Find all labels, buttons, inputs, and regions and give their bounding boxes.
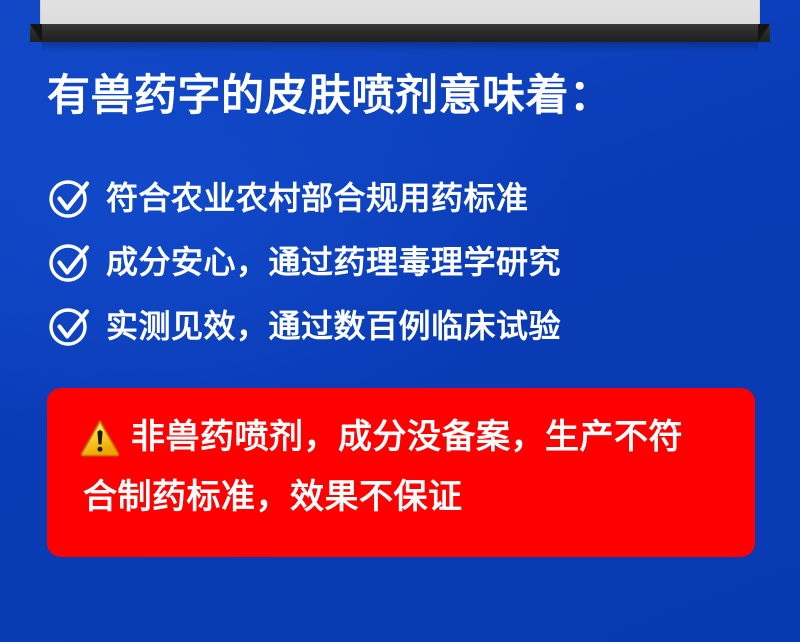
list-item: 成分安心，通过药理毒理学研究 [48,230,748,294]
list-item: 符合农业农村部合规用药标准 [48,166,748,230]
check-circle-icon [48,241,90,283]
framed-board-bevel-left [30,24,42,42]
warning-triangle-icon [80,418,120,458]
warning-panel: 非兽药喷剂，成分没备案，生产不符 合制药标准，效果不保证 [47,388,755,557]
framed-board-bottom-edge [30,24,770,42]
check-circle-icon [48,177,90,219]
framed-board-shadow [42,42,758,52]
warning-text-line-1: 非兽药喷剂，成分没备案，生产不符 [131,414,683,460]
list-item-label: 成分安心，通过药理毒理学研究 [106,242,561,282]
warning-line-1: 非兽药喷剂，成分没备案，生产不符 [80,414,731,460]
warning-text-line-2: 合制药标准，效果不保证 [83,474,463,520]
list-item: 实测见效，通过数百例临床试验 [48,294,748,358]
page-title: 有兽药字的皮肤喷剂意味着： [47,70,613,122]
list-item-label: 符合农业农村部合规用药标准 [106,178,529,218]
check-circle-icon [48,305,90,347]
warning-line-2: 合制药标准，效果不保证 [80,474,731,520]
list-item-label: 实测见效，通过数百例临床试验 [106,306,561,346]
benefit-list: 符合农业农村部合规用药标准 成分安心，通过药理毒理学研究 实测见效，通过数百例临… [48,166,748,358]
promo-poster: 有兽药字的皮肤喷剂意味着： 符合农业农村部合规用药标准 成分安心，通过药理毒理学… [0,0,800,642]
framed-board-bevel-right [758,24,770,42]
